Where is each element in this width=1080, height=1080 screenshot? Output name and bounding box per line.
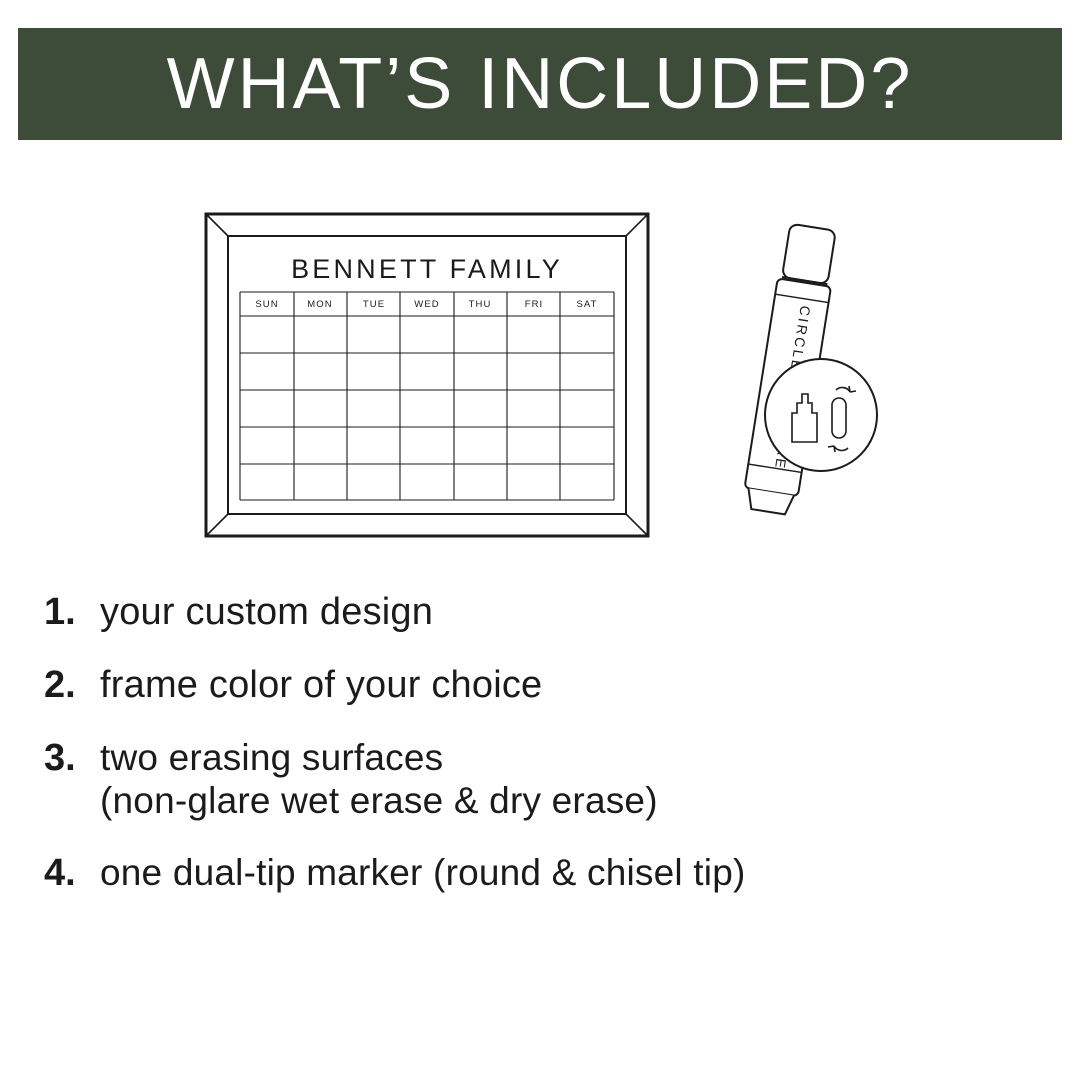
svg-text:THU: THU: [469, 299, 492, 310]
list-item-label: one dual-tip marker (round & chisel tip): [100, 851, 746, 895]
illustration-area: BENNETT FAMILY SUN MON TUE WED THU FRI S…: [0, 170, 1080, 570]
list-item-label: two erasing surfaces (non-glare wet eras…: [100, 736, 658, 823]
page-title: WHAT’S INCLUDED?: [167, 48, 914, 120]
list-item: 3. two erasing surfaces (non-glare wet e…: [44, 736, 1044, 823]
included-list: 1. your custom design 2. frame color of …: [44, 590, 1044, 924]
svg-text:SAT: SAT: [576, 299, 597, 310]
list-item-number: 1.: [44, 590, 100, 635]
list-item: 2. frame color of your choice: [44, 663, 1044, 708]
svg-text:TUE: TUE: [363, 299, 385, 310]
list-item-label: your custom design: [100, 590, 433, 635]
list-item: 4. one dual-tip marker (round & chisel t…: [44, 851, 1044, 896]
header-banner: WHAT’S INCLUDED?: [18, 28, 1062, 140]
svg-text:WED: WED: [414, 299, 439, 310]
page-root: WHAT’S INCLUDED? BENNETT FAMILY: [0, 0, 1080, 1080]
list-item-number: 3.: [44, 736, 100, 781]
dual-tip-marker-illustration: CIRCLE & SQUARE: [741, 223, 877, 516]
list-item: 1. your custom design: [44, 590, 1044, 635]
svg-text:MON: MON: [307, 299, 332, 310]
list-item-number: 4.: [44, 851, 100, 896]
whiteboard-calendar-illustration: BENNETT FAMILY SUN MON TUE WED THU FRI S…: [206, 214, 648, 536]
svg-text:BENNETT FAMILY: BENNETT FAMILY: [291, 254, 563, 284]
list-item-number: 2.: [44, 663, 100, 708]
svg-text:FRI: FRI: [525, 299, 544, 310]
list-item-label: frame color of your choice: [100, 663, 542, 708]
svg-text:SUN: SUN: [255, 299, 278, 310]
